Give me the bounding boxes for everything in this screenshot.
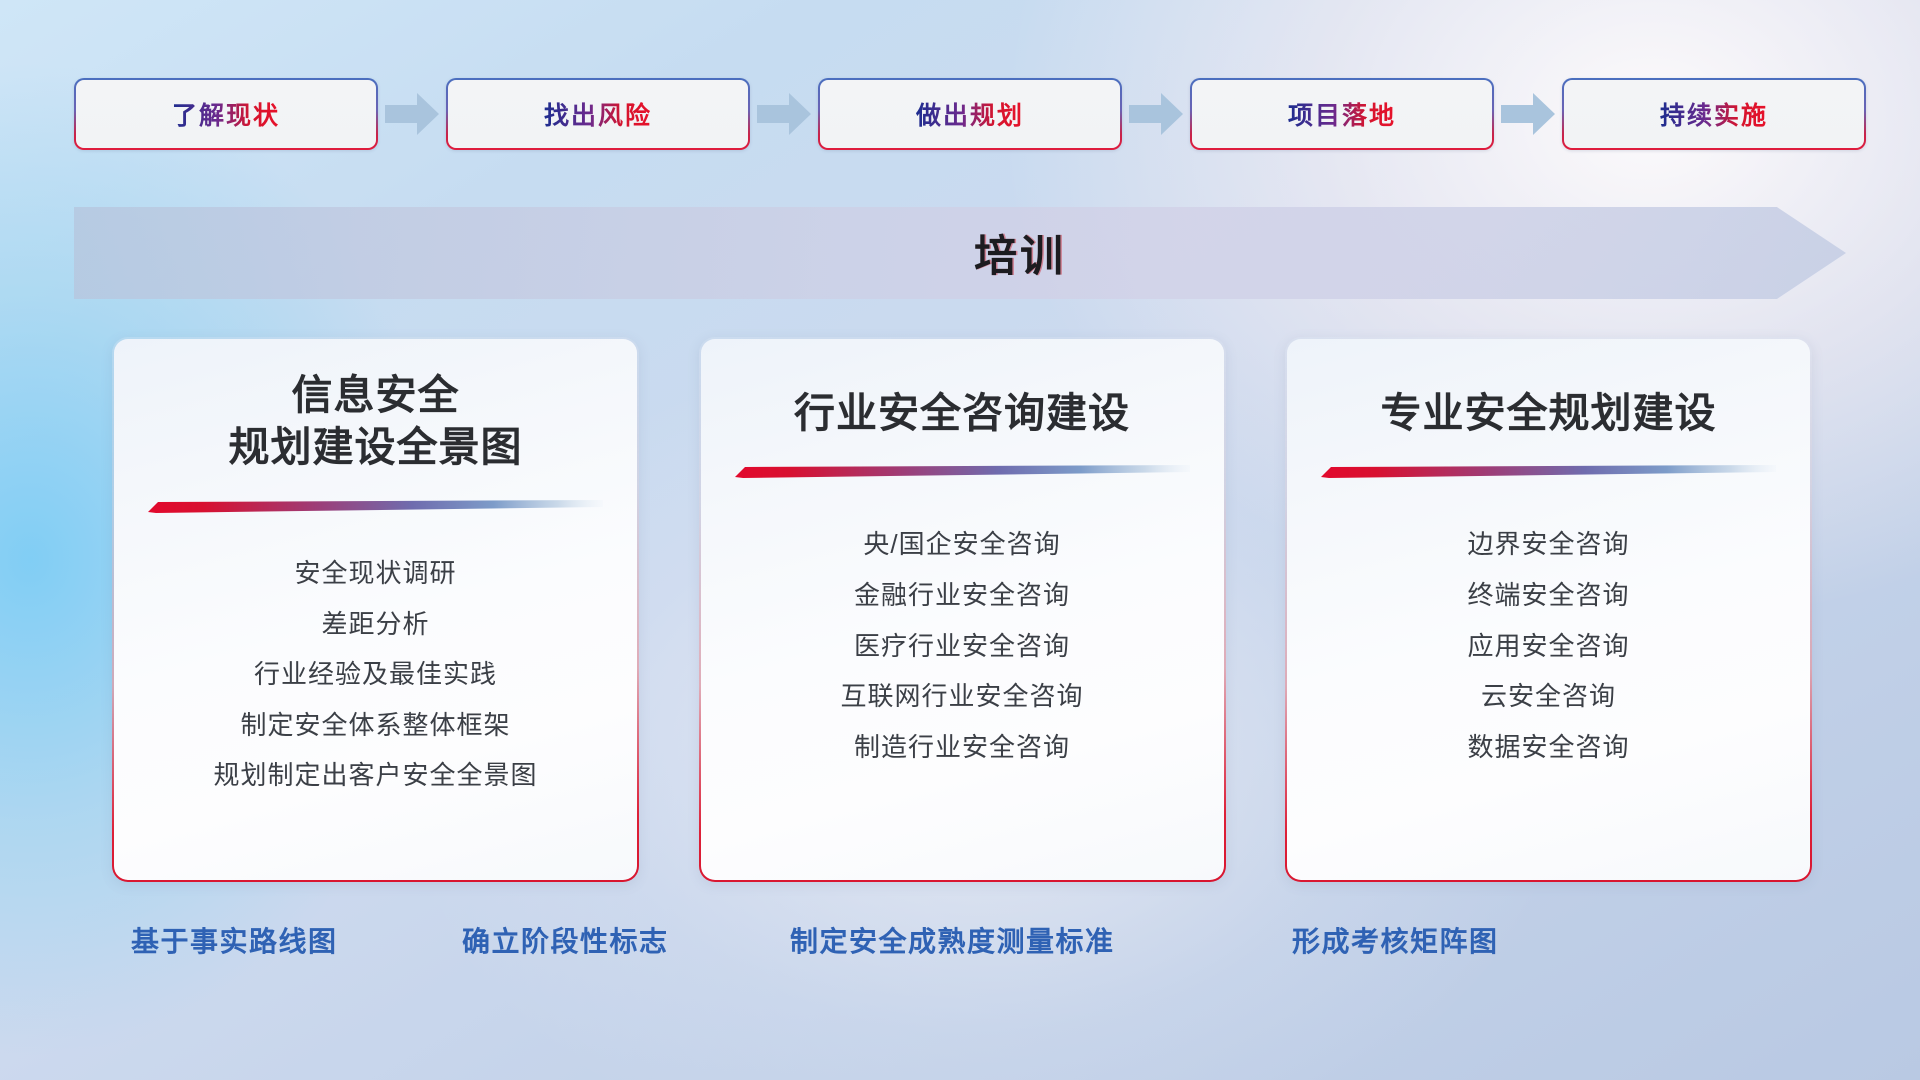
step-box-2[interactable]: 找出风险 xyxy=(446,78,750,150)
card-title: 行业安全咨询建设 xyxy=(794,375,1130,439)
slide-canvas: 了解现状 找出风险 做出规划 项目落地 持续实施 培训 xyxy=(0,0,1920,1080)
list-item: 制造行业安全咨询 xyxy=(854,727,1070,769)
list-item: 互联网行业安全咨询 xyxy=(840,676,1083,718)
list-item: 边界安全咨询 xyxy=(1467,524,1629,566)
list-item: 差距分析 xyxy=(321,604,429,646)
banner-title: 培训 xyxy=(74,207,1846,299)
step-box-4[interactable]: 项目落地 xyxy=(1190,78,1494,150)
step-label: 了解现状 xyxy=(172,96,280,132)
list-item: 制定安全体系整体框架 xyxy=(240,705,510,747)
training-banner: 培训 xyxy=(74,207,1846,299)
step-label: 项目落地 xyxy=(1288,96,1396,132)
footnote-label: 形成考核矩阵图 xyxy=(1292,920,1499,960)
arrow-right-icon xyxy=(1122,90,1190,138)
arrow-right-icon xyxy=(1494,90,1562,138)
footnote-row: 基于事实路线图 确立阶段性标志 制定安全成熟度测量标准 形成考核矩阵图 xyxy=(0,920,1920,970)
card-item-list: 边界安全咨询 终端安全咨询 应用安全咨询 云安全咨询 数据安全咨询 xyxy=(1317,524,1780,768)
footnote-label: 确立阶段性标志 xyxy=(462,920,669,960)
list-item: 医疗行业安全咨询 xyxy=(854,626,1070,668)
list-item: 央/国企安全咨询 xyxy=(863,524,1060,566)
step-box-3[interactable]: 做出规划 xyxy=(818,78,1122,150)
card-professional-security-planning[interactable]: 专业安全规划建设 xyxy=(1285,337,1812,882)
list-item: 云安全咨询 xyxy=(1481,676,1616,718)
card-item-list: 央/国企安全咨询 金融行业安全咨询 医疗行业安全咨询 互联网行业安全咨询 制造行… xyxy=(731,524,1194,768)
list-item: 金融行业安全咨询 xyxy=(854,575,1070,617)
card-industry-security-consulting[interactable]: 行业安全咨询建设 xyxy=(699,337,1226,882)
gradient-divider-icon xyxy=(735,465,1190,478)
step-label: 持续实施 xyxy=(1660,96,1768,132)
step-box-1[interactable]: 了解现状 xyxy=(74,78,378,150)
card-information-security-blueprint[interactable]: 信息安全 规划建设全景图 xyxy=(112,337,639,882)
gradient-divider-icon xyxy=(1321,465,1776,478)
list-item: 安全现状调研 xyxy=(294,553,456,595)
card-title: 信息安全 规划建设全景图 xyxy=(229,369,523,474)
footnote-label: 基于事实路线图 xyxy=(131,920,338,960)
step-label: 做出规划 xyxy=(916,96,1024,132)
list-item: 终端安全咨询 xyxy=(1467,575,1629,617)
gradient-divider-icon xyxy=(148,500,603,513)
arrow-right-icon xyxy=(750,90,818,138)
process-steps: 了解现状 找出风险 做出规划 项目落地 持续实施 xyxy=(74,79,1846,149)
step-box-5[interactable]: 持续实施 xyxy=(1562,78,1866,150)
list-item: 规划制定出客户安全全景图 xyxy=(213,755,537,797)
arrow-right-icon xyxy=(378,90,446,138)
card-item-list: 安全现状调研 差距分析 行业经验及最佳实践 制定安全体系整体框架 规划制定出客户… xyxy=(144,553,607,797)
card-title: 专业安全规划建设 xyxy=(1381,375,1717,439)
list-item: 应用安全咨询 xyxy=(1467,626,1629,668)
list-item: 行业经验及最佳实践 xyxy=(254,654,497,696)
step-label: 找出风险 xyxy=(544,96,652,132)
footnote-label: 制定安全成熟度测量标准 xyxy=(790,920,1115,960)
list-item: 数据安全咨询 xyxy=(1467,727,1629,769)
card-group: 信息安全 规划建设全景图 xyxy=(112,337,1812,882)
